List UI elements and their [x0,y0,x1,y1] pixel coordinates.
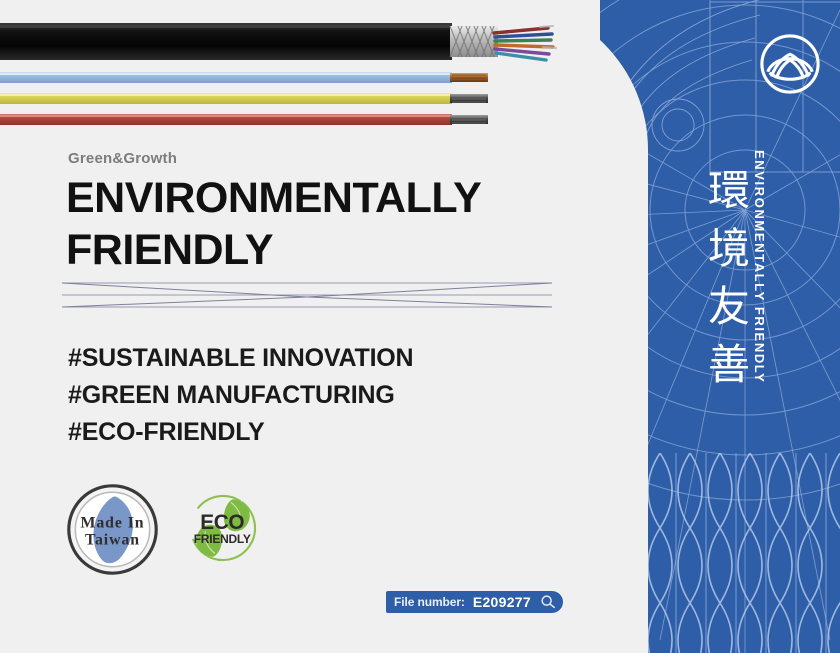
file-number-label: File number: [394,595,465,609]
hashtag-item-3: #ECO-FRIENDLY [68,414,413,451]
eyebrow-label: Green&Growth [68,150,177,167]
cn-char-4: 善 [703,336,755,394]
poster-root: Green&Growth ENVIRONMENTALLY FRIENDLY #S… [0,0,840,653]
cn-char-3: 友 [703,278,755,336]
hashtag-item-1: #SUSTAINABLE INNOVATION [68,340,413,377]
mit-line-1: Made In [81,515,145,532]
cable-product-illustration [0,0,560,130]
file-number-value: E209277 [473,594,531,610]
eco-line-2: FRIENDLY [194,532,251,546]
cn-char-1: 環 [703,162,755,220]
eco-line-1: ECO [200,511,244,534]
trefoil-arch-logo-icon [759,33,821,95]
certification-badges: Made In Taiwan ECO FRIENDLY [66,483,263,576]
decorative-crossing-lines [62,277,552,319]
headline-line-2: FRIENDLY [66,224,586,276]
headline-line-1: ENVIRONMENTALLY [66,172,586,224]
file-number-bar[interactable]: File number: E209277 [386,591,563,613]
mit-line-2: Taiwan [85,531,140,548]
english-vertical-title: ENVIRONMENTALLY FRIENDLY [752,150,767,383]
chinese-vertical-title: 環 境 友 善 [703,162,755,394]
made-in-taiwan-badge: Made In Taiwan [66,483,159,576]
page-title: ENVIRONMENTALLY FRIENDLY [66,172,586,276]
hashtag-list: #SUSTAINABLE INNOVATION #GREEN MANUFACTU… [68,340,413,451]
cn-char-2: 境 [703,220,755,278]
hashtag-item-2: #GREEN MANUFACTURING [68,377,413,414]
eco-friendly-badge: ECO FRIENDLY [183,488,263,568]
search-icon[interactable] [539,593,557,611]
